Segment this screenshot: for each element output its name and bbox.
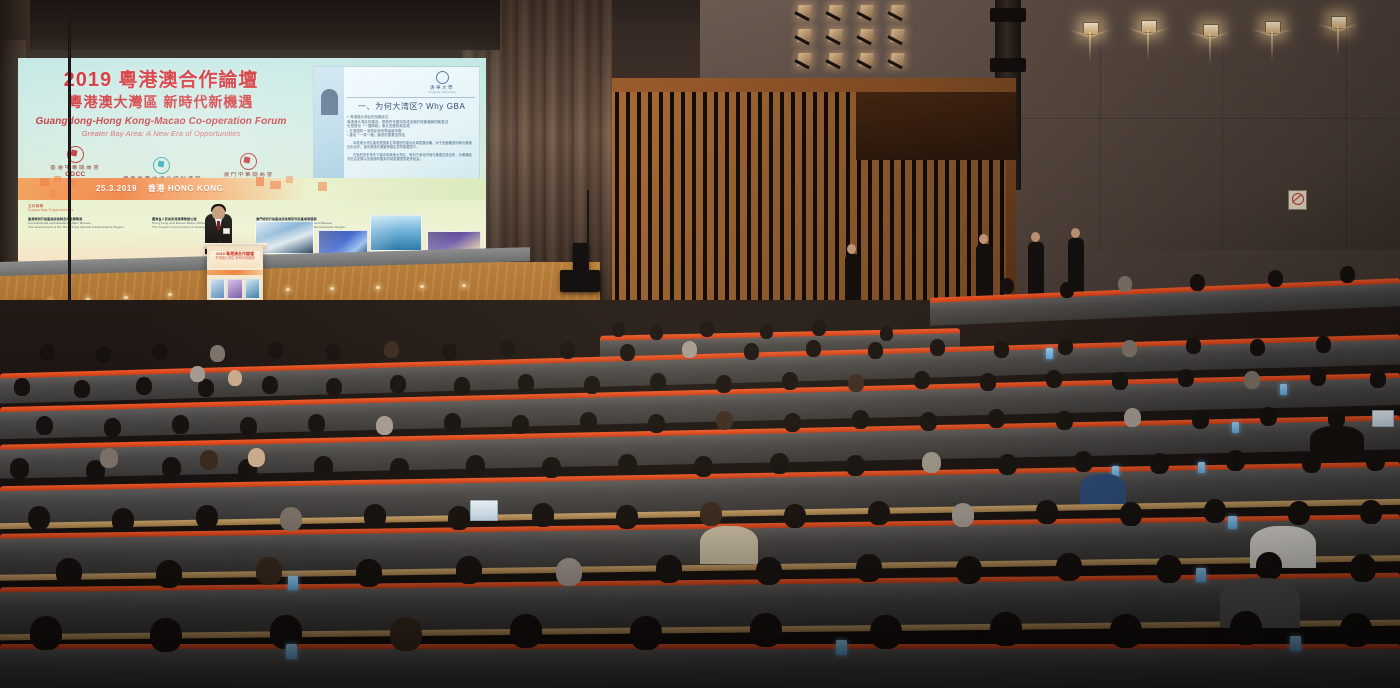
podium-signage: 2019 粵港澳合作論壇 粵港澳大灣區 新時代新機遇 (210, 251, 260, 268)
attendee-laptop (1372, 410, 1394, 427)
attendee-head (612, 322, 625, 337)
attendee-head (28, 506, 50, 530)
forum-title-cn-main: 粵港澳合作論壇 (118, 70, 258, 91)
attendee-smartphone (1196, 568, 1206, 582)
slide-bullet: 建设「一带一路」建设的重要支撑区 (347, 133, 473, 138)
spotlight-icon (824, 2, 853, 24)
attendee-head (364, 504, 386, 528)
attendee-smartphone (1198, 462, 1205, 473)
attendee-head (868, 501, 890, 525)
attendee-head (1250, 339, 1265, 356)
attendee-head (760, 324, 773, 339)
attendee-shoulders (1310, 426, 1364, 456)
attendee-head (700, 502, 722, 526)
attendee-head (584, 376, 600, 394)
attendee-head (100, 448, 118, 468)
attendee-head (856, 554, 882, 582)
stage-edge-light (420, 285, 424, 288)
attendee-head (620, 344, 635, 361)
attendee-head (1370, 370, 1386, 388)
attendee-head (784, 504, 806, 528)
attendee-head (1000, 278, 1014, 294)
stage-edge-light (286, 288, 290, 291)
attendee-laptop (470, 500, 498, 521)
attendee-head (280, 507, 302, 531)
attendee-head (618, 454, 637, 475)
attendee-smartphone (1046, 348, 1053, 359)
spotlight-icon (886, 26, 915, 48)
podium-sign-line2: 粵港澳大灣區 新時代新機遇 (210, 256, 260, 260)
attendee-head (868, 342, 883, 359)
attendee-head (700, 321, 714, 337)
attendee-head (1268, 270, 1283, 287)
presenter-tie (217, 221, 220, 230)
truss-band (990, 58, 1026, 72)
attendee-head (56, 558, 82, 586)
attendee-head (980, 373, 996, 391)
attendee-head (756, 557, 782, 585)
attendee-head (650, 373, 666, 391)
attendee-head (920, 412, 937, 431)
attendee-head (1288, 501, 1310, 525)
pa-speaker-right (560, 270, 600, 292)
presenter-name-badge (223, 228, 230, 234)
attendee-head (650, 325, 663, 340)
stage-edge-light (376, 286, 380, 289)
presenter-head (212, 206, 225, 220)
attendee-head (150, 618, 182, 652)
spotlight-icon (886, 50, 915, 72)
spotlight-icon (886, 2, 915, 24)
attendee-head (1316, 336, 1331, 353)
attendee-smartphone (286, 644, 297, 659)
attendee-head (1056, 411, 1073, 430)
attendee-head (500, 340, 515, 357)
attendee-shoulders (700, 526, 758, 564)
attendee-smartphone (836, 640, 847, 655)
slide-divider (347, 97, 475, 98)
attendee-head (1186, 337, 1201, 354)
attendee-head (1340, 613, 1372, 647)
spotlight-icon (793, 26, 822, 48)
speaker-stand-pole (68, 8, 71, 328)
attendee-head (1122, 340, 1137, 357)
attendee-head (994, 341, 1009, 358)
attendee-head (1056, 553, 1082, 581)
attendee-head (648, 414, 665, 433)
attendee-head (262, 376, 278, 394)
attendee-head (466, 455, 485, 476)
attendee-head (248, 448, 265, 467)
attendee-head (228, 370, 242, 386)
guangdong-council-emblem-icon (153, 157, 170, 174)
attendee-head (96, 346, 111, 363)
presentation-slide: 清華大學 Tsinghua University 一、为何大湾区? Why GB… (313, 66, 480, 180)
supporting-org-1: 香港特別行政區政府政制及內地事務局 Constitutional and Mai… (28, 217, 140, 229)
attendee-head (532, 503, 554, 527)
attendee-head (1350, 554, 1376, 582)
attendee-head (1366, 450, 1385, 471)
attendee-head (1340, 266, 1355, 283)
attendee-head (922, 452, 941, 473)
attendee-head (444, 413, 461, 432)
attendee-head (210, 345, 225, 362)
attendee-head (1204, 499, 1226, 523)
event-location-cn: 香港 (148, 184, 165, 193)
attendee-head (556, 558, 582, 586)
attendee-head (356, 559, 382, 587)
slide-heading: 一、为何大湾区? Why GBA (358, 101, 465, 112)
attendee-head (1360, 500, 1382, 524)
attendee-head (1192, 410, 1209, 429)
spotlight-icon (793, 2, 822, 24)
attendee-head (580, 412, 597, 431)
attendee-head (998, 454, 1017, 475)
standing-staff-head (847, 244, 856, 254)
attendee-head (1310, 368, 1326, 386)
spotlight-icon (855, 26, 884, 48)
attendee-smartphone (1228, 516, 1237, 529)
infra-photo-high-speed-rail (255, 221, 314, 254)
attendee-head (442, 343, 457, 360)
attendee-head (454, 377, 470, 395)
attendee-head (384, 341, 399, 358)
attendee-head (1226, 450, 1245, 471)
attendee-head (326, 378, 342, 396)
attendee-head (542, 457, 561, 478)
attendee-head (1074, 451, 1093, 472)
slide-paragraph: 在新的历史条件下建设粤港澳大湾区，有利于深化内地与港澳交流合作，为港澳经济社会发… (347, 153, 473, 162)
standing-staff-head (979, 234, 988, 244)
attendee-head (744, 343, 759, 360)
slide-archway-image (321, 89, 338, 115)
spotlight-icon (855, 50, 884, 72)
attendee-head (256, 557, 282, 585)
stage-edge-light (462, 284, 466, 287)
attendee-head (1156, 555, 1182, 583)
proscenium-header (0, 0, 500, 50)
attendee-head (14, 378, 30, 396)
standing-staff (845, 254, 860, 300)
attendee-head (104, 418, 121, 437)
university-seal-icon (436, 71, 449, 84)
standing-staff (1028, 242, 1044, 296)
attendee-head (326, 344, 341, 361)
attendee-head (616, 505, 638, 529)
attendee-head (1046, 370, 1062, 388)
attendee-head (36, 416, 53, 435)
infra-photo-bridge (370, 215, 422, 251)
attendee-head (390, 458, 409, 479)
attendee-head (162, 457, 181, 478)
slide-body: 粤港澳大湾区的战略定位 粤港澳大湾区的建设，是新时代推动形成全面开放新格局的新尝… (347, 115, 473, 162)
attendee-head (848, 374, 864, 392)
attendee-head (30, 616, 62, 650)
truss-band (990, 8, 1026, 22)
attendee-head (784, 413, 801, 432)
wall-sconce-light (1141, 20, 1157, 60)
seat-row (0, 648, 1400, 688)
attendee-head (656, 555, 682, 583)
attendee-smartphone (1232, 422, 1239, 433)
attendee-head (190, 366, 205, 382)
attendee-head (1244, 371, 1260, 389)
attendee-smartphone (288, 576, 298, 590)
seat-row (0, 577, 1400, 636)
standing-staff-head (1031, 232, 1040, 242)
wall-sconce-light (1265, 21, 1281, 61)
attendee-head (390, 617, 422, 651)
attendee-head (1112, 372, 1128, 390)
supporting-organisations-label: 支持機構 Supporting Organisations (28, 204, 128, 213)
slide-side-graphic (314, 67, 344, 179)
attendee-head (510, 614, 542, 648)
attendee-head (1058, 338, 1073, 355)
attendee-head (716, 375, 732, 393)
attendee-head (682, 341, 697, 358)
spotlight-icon (793, 50, 822, 72)
attendee-head (268, 342, 283, 359)
attendee-head (10, 458, 29, 479)
attendee-head (1118, 276, 1132, 292)
attendee-head (196, 505, 218, 529)
stage-edge-light (124, 296, 128, 299)
wall-seam (1222, 20, 1223, 250)
attendee-head (1178, 369, 1194, 387)
attendee-head (716, 411, 733, 430)
slide-paragraph: 粤港澳大湾区建设是国家主导推进的重大区域发展战略，对于全面推进内地与港澳互利合作… (347, 141, 473, 150)
attendee-head (770, 453, 789, 474)
attendee-head (172, 415, 189, 434)
attendee-head (782, 372, 798, 390)
event-date: 25.3.2019 (96, 184, 137, 193)
podium-photo-1 (210, 279, 225, 299)
wall-seam (1100, 20, 1101, 250)
spotlight-icon (855, 2, 884, 24)
auditorium-photo: 2019 粵港澳合作論壇 粵港澳大灣區 新時代新機遇 Guangdong-Hon… (0, 0, 1400, 688)
attendee-head (1124, 408, 1141, 427)
wall-sconce-light (1331, 16, 1347, 56)
attendee-head (560, 342, 575, 359)
org-name-en-2: The Government of the Hong Kong Special … (28, 225, 140, 229)
attendee-head (1260, 407, 1277, 426)
attendee-head (988, 409, 1005, 428)
speaker-tripod-pole (587, 190, 589, 276)
attendee-head (914, 371, 930, 389)
wall-sconce-light (1203, 24, 1219, 64)
attendee-head (240, 417, 257, 436)
university-name-en: Tsinghua University (413, 91, 471, 94)
event-date-location: 25.3.2019 香港 HONG KONG (96, 183, 223, 194)
attendee-head (750, 613, 782, 647)
attendee-head (200, 450, 218, 470)
attendee-head (74, 380, 90, 398)
stage-edge-light (330, 287, 334, 290)
attendee-head (1302, 452, 1321, 473)
university-logo: 清華大學 Tsinghua University (413, 71, 471, 94)
podium-colour-band (207, 270, 263, 275)
attendee-head (40, 344, 55, 361)
attendee-head (880, 326, 893, 341)
attendee-head (852, 410, 869, 429)
attendee-head (152, 343, 167, 360)
attendee-head (376, 416, 393, 435)
macao-chamber-emblem-icon (240, 153, 257, 170)
event-location-en: HONG KONG (168, 184, 224, 193)
attendee-head (314, 456, 333, 477)
supporting-org-2: 廣東省人民政府港澳事務辦公室 Hong Kong and Macao Affai… (152, 217, 248, 229)
prohibition-notice-sign (1288, 190, 1307, 210)
attendee-head (308, 414, 325, 433)
attendee-head (156, 560, 182, 588)
attendee-head (1036, 500, 1058, 524)
attendee-head (1110, 614, 1142, 648)
attendee-head (1256, 552, 1282, 580)
podium-photo-3 (245, 279, 260, 299)
stage-edge-light (168, 293, 172, 296)
attendee-smartphone (1280, 384, 1287, 395)
attendee-head (952, 503, 974, 527)
ceiling-spotlight-grid (793, 2, 915, 72)
attendee-head (846, 455, 865, 476)
attendee-head (1230, 611, 1262, 645)
wall-sconce-light (1083, 22, 1099, 62)
spotlight-icon (824, 50, 853, 72)
attendee-head (630, 616, 662, 650)
standing-staff (976, 244, 992, 296)
attendee-head (136, 377, 152, 395)
attendee-head (456, 556, 482, 584)
attendee-head (518, 374, 534, 392)
attendee-head (990, 612, 1022, 646)
attendee-head (806, 340, 821, 357)
attendee-head (112, 508, 134, 532)
attendee-head (1060, 282, 1074, 298)
band-decor-blocks (18, 176, 486, 202)
standing-staff-head (1071, 228, 1080, 238)
attendee-head (930, 339, 945, 356)
attendee-head (956, 556, 982, 584)
attendee-smartphone (1290, 636, 1301, 651)
attendee-head (1190, 274, 1205, 291)
attendee-head (390, 375, 406, 393)
attendee-head (870, 615, 902, 649)
attendee-head (448, 506, 470, 530)
attendee-head (512, 415, 529, 434)
supporting-label-en: Supporting Organisations (28, 208, 128, 212)
attendee-head (1150, 453, 1169, 474)
attendee-shoulders (1080, 474, 1126, 504)
spotlight-icon (824, 26, 853, 48)
attendee-head (694, 456, 713, 477)
attendee-head (812, 320, 826, 336)
org-name-en-2: The People's Government of Guangdong Pro… (152, 225, 248, 229)
attendee-head (1120, 502, 1142, 526)
podium-photo-strip (210, 279, 260, 299)
podium-photo-2 (227, 279, 242, 299)
audience-area (0, 300, 1400, 688)
